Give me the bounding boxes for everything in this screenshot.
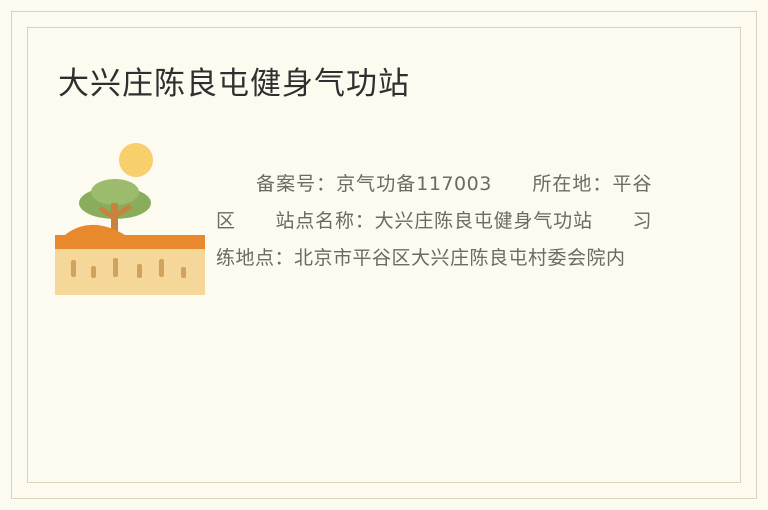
page-title: 大兴庄陈良屯健身气功站	[58, 62, 698, 106]
article-body: 备案号：京气功备117003 所在地：平谷区 站点名称：大兴庄陈良屯健身气功站 …	[216, 166, 652, 277]
article-card: 大兴庄陈良屯健身气功站	[0, 0, 768, 510]
landscape-tree-icon	[55, 140, 205, 295]
